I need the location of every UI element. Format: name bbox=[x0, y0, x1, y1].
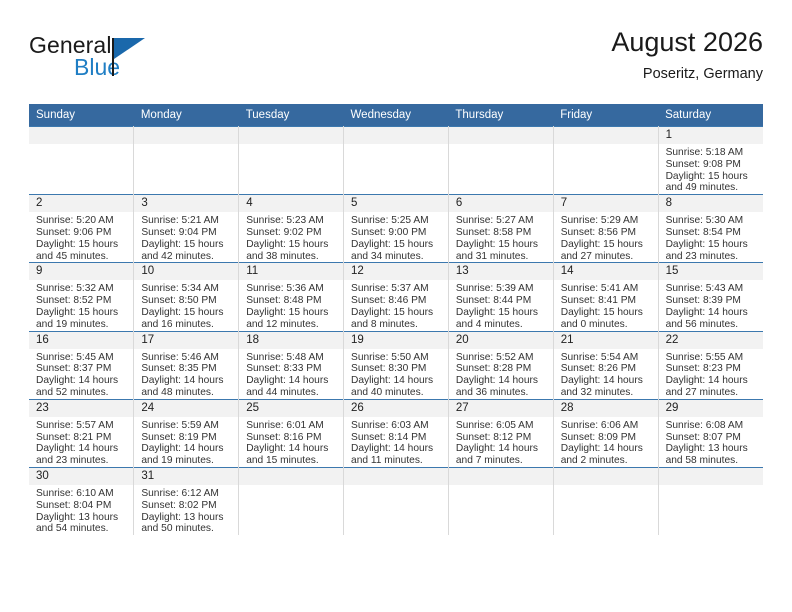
calendar-cell-empty bbox=[553, 127, 658, 195]
day-number: 14 bbox=[554, 263, 658, 280]
daylight-duration-line2: and 48 minutes. bbox=[141, 387, 232, 399]
general-blue-logo[interactable]: General Blue bbox=[29, 26, 159, 90]
daylight-duration-line1: Daylight: 14 hours bbox=[561, 375, 652, 387]
daylight-duration-line1: Daylight: 15 hours bbox=[456, 307, 547, 319]
calendar-cell-empty bbox=[658, 467, 763, 535]
sunrise-time: Sunrise: 6:08 AM bbox=[666, 420, 757, 432]
sunrise-time: Sunrise: 5:54 AM bbox=[561, 352, 652, 364]
sunset-time: Sunset: 8:33 PM bbox=[246, 363, 337, 375]
sunrise-time: Sunrise: 5:30 AM bbox=[666, 215, 757, 227]
daylight-duration-line1: Daylight: 14 hours bbox=[351, 443, 442, 455]
sunrise-time: Sunrise: 5:57 AM bbox=[36, 420, 127, 432]
calendar-cell-empty bbox=[239, 127, 344, 195]
daylight-duration-line1: Daylight: 15 hours bbox=[246, 307, 337, 319]
sunset-time: Sunset: 8:52 PM bbox=[36, 295, 127, 307]
daylight-duration-line2: and 0 minutes. bbox=[561, 319, 652, 331]
daylight-duration-line1: Daylight: 14 hours bbox=[36, 375, 127, 387]
day-number bbox=[239, 468, 343, 485]
day-details: Sunrise: 5:29 AMSunset: 8:56 PMDaylight:… bbox=[554, 212, 658, 262]
sunrise-time: Sunrise: 5:20 AM bbox=[36, 215, 127, 227]
day-number bbox=[659, 468, 763, 485]
day-number: 15 bbox=[659, 263, 763, 280]
daylight-duration-line2: and 23 minutes. bbox=[36, 455, 127, 467]
sunset-time: Sunset: 9:04 PM bbox=[141, 227, 232, 239]
calendar-day-cell[interactable]: 2Sunrise: 5:20 AMSunset: 9:06 PMDaylight… bbox=[29, 195, 134, 263]
daylight-duration-line2: and 54 minutes. bbox=[36, 523, 127, 535]
sunset-time: Sunset: 8:19 PM bbox=[141, 432, 232, 444]
sunset-time: Sunset: 9:06 PM bbox=[36, 227, 127, 239]
day-details: Sunrise: 5:36 AMSunset: 8:48 PMDaylight:… bbox=[239, 280, 343, 330]
sunrise-time: Sunrise: 5:25 AM bbox=[351, 215, 442, 227]
daylight-duration-line2: and 23 minutes. bbox=[666, 251, 757, 263]
calendar-day-cell[interactable]: 1Sunrise: 5:18 AMSunset: 9:08 PMDaylight… bbox=[658, 127, 763, 195]
calendar-day-cell[interactable]: 15Sunrise: 5:43 AMSunset: 8:39 PMDayligh… bbox=[658, 263, 763, 331]
daylight-duration-line1: Daylight: 13 hours bbox=[141, 512, 232, 524]
calendar-week-row: 16Sunrise: 5:45 AMSunset: 8:37 PMDayligh… bbox=[29, 331, 763, 399]
calendar-day-cell[interactable]: 21Sunrise: 5:54 AMSunset: 8:26 PMDayligh… bbox=[553, 331, 658, 399]
daylight-duration-line2: and 44 minutes. bbox=[246, 387, 337, 399]
daylight-duration-line1: Daylight: 15 hours bbox=[351, 239, 442, 251]
day-details: Sunrise: 5:37 AMSunset: 8:46 PMDaylight:… bbox=[344, 280, 448, 330]
day-details: Sunrise: 5:55 AMSunset: 8:23 PMDaylight:… bbox=[659, 349, 763, 399]
calendar-day-cell[interactable]: 17Sunrise: 5:46 AMSunset: 8:35 PMDayligh… bbox=[134, 331, 239, 399]
day-number: 6 bbox=[449, 195, 553, 212]
daylight-duration-line1: Daylight: 13 hours bbox=[666, 443, 757, 455]
day-details: Sunrise: 5:27 AMSunset: 8:58 PMDaylight:… bbox=[449, 212, 553, 262]
day-details: Sunrise: 5:23 AMSunset: 9:02 PMDaylight:… bbox=[239, 212, 343, 262]
day-details: Sunrise: 5:45 AMSunset: 8:37 PMDaylight:… bbox=[29, 349, 133, 399]
calendar-cell-empty bbox=[239, 467, 344, 535]
daylight-duration-line1: Daylight: 15 hours bbox=[351, 307, 442, 319]
calendar-day-cell[interactable]: 7Sunrise: 5:29 AMSunset: 8:56 PMDaylight… bbox=[553, 195, 658, 263]
sunrise-time: Sunrise: 5:27 AM bbox=[456, 215, 547, 227]
weekday-header-saturday: Saturday bbox=[658, 104, 763, 127]
sunrise-time: Sunrise: 5:46 AM bbox=[141, 352, 232, 364]
sunset-time: Sunset: 9:08 PM bbox=[666, 159, 757, 171]
calendar-week-row: 9Sunrise: 5:32 AMSunset: 8:52 PMDaylight… bbox=[29, 263, 763, 331]
day-details: Sunrise: 5:30 AMSunset: 8:54 PMDaylight:… bbox=[659, 212, 763, 262]
sunrise-time: Sunrise: 6:10 AM bbox=[36, 488, 127, 500]
daylight-duration-line1: Daylight: 15 hours bbox=[36, 239, 127, 251]
daylight-duration-line2: and 58 minutes. bbox=[666, 455, 757, 467]
day-number: 22 bbox=[659, 332, 763, 349]
daylight-duration-line2: and 56 minutes. bbox=[666, 319, 757, 331]
daylight-duration-line2: and 45 minutes. bbox=[36, 251, 127, 263]
daylight-duration-line2: and 50 minutes. bbox=[141, 523, 232, 535]
day-number: 29 bbox=[659, 400, 763, 417]
daylight-duration-line1: Daylight: 14 hours bbox=[246, 443, 337, 455]
calendar-day-cell[interactable]: 16Sunrise: 5:45 AMSunset: 8:37 PMDayligh… bbox=[29, 331, 134, 399]
day-details: Sunrise: 5:21 AMSunset: 9:04 PMDaylight:… bbox=[134, 212, 238, 262]
day-number: 31 bbox=[134, 468, 238, 485]
daylight-duration-line2: and 36 minutes. bbox=[456, 387, 547, 399]
page-title: August 2026 bbox=[611, 26, 763, 58]
sunrise-time: Sunrise: 6:01 AM bbox=[246, 420, 337, 432]
calendar-day-cell[interactable]: 30Sunrise: 6:10 AMSunset: 8:04 PMDayligh… bbox=[29, 467, 134, 535]
day-details: Sunrise: 5:25 AMSunset: 9:00 PMDaylight:… bbox=[344, 212, 448, 262]
day-number bbox=[554, 468, 658, 485]
day-details: Sunrise: 5:20 AMSunset: 9:06 PMDaylight:… bbox=[29, 212, 133, 262]
weekday-header-thursday: Thursday bbox=[448, 104, 553, 127]
day-details: Sunrise: 5:48 AMSunset: 8:33 PMDaylight:… bbox=[239, 349, 343, 399]
calendar-cell-empty bbox=[29, 127, 134, 195]
daylight-duration-line2: and 40 minutes. bbox=[351, 387, 442, 399]
calendar-day-cell[interactable]: 23Sunrise: 5:57 AMSunset: 8:21 PMDayligh… bbox=[29, 399, 134, 467]
day-number: 18 bbox=[239, 332, 343, 349]
daylight-duration-line2: and 8 minutes. bbox=[351, 319, 442, 331]
sunset-time: Sunset: 8:56 PM bbox=[561, 227, 652, 239]
daylight-duration-line2: and 27 minutes. bbox=[561, 251, 652, 263]
calendar-day-cell[interactable]: 19Sunrise: 5:50 AMSunset: 8:30 PMDayligh… bbox=[344, 331, 449, 399]
daylight-duration-line1: Daylight: 15 hours bbox=[456, 239, 547, 251]
sunrise-time: Sunrise: 6:12 AM bbox=[141, 488, 232, 500]
day-number: 4 bbox=[239, 195, 343, 212]
day-number: 27 bbox=[449, 400, 553, 417]
logo-triangle-icon bbox=[114, 38, 145, 59]
sunrise-time: Sunrise: 5:18 AM bbox=[666, 147, 757, 159]
sunset-time: Sunset: 8:46 PM bbox=[351, 295, 442, 307]
calendar-day-cell[interactable]: 6Sunrise: 5:27 AMSunset: 8:58 PMDaylight… bbox=[448, 195, 553, 263]
daylight-duration-line1: Daylight: 14 hours bbox=[36, 443, 127, 455]
day-number: 10 bbox=[134, 263, 238, 280]
day-number: 12 bbox=[344, 263, 448, 280]
daylight-duration-line2: and 2 minutes. bbox=[561, 455, 652, 467]
daylight-duration-line1: Daylight: 14 hours bbox=[141, 375, 232, 387]
day-details: Sunrise: 6:05 AMSunset: 8:12 PMDaylight:… bbox=[449, 417, 553, 467]
sunrise-time: Sunrise: 6:03 AM bbox=[351, 420, 442, 432]
day-details: Sunrise: 6:10 AMSunset: 8:04 PMDaylight:… bbox=[29, 485, 133, 535]
page-header: General Blue August 2026 Poseritz, Germa… bbox=[29, 26, 763, 98]
sunset-time: Sunset: 8:14 PM bbox=[351, 432, 442, 444]
calendar-cell-empty bbox=[134, 127, 239, 195]
calendar-day-cell[interactable]: 3Sunrise: 5:21 AMSunset: 9:04 PMDaylight… bbox=[134, 195, 239, 263]
day-number: 28 bbox=[554, 400, 658, 417]
daylight-duration-line1: Daylight: 15 hours bbox=[246, 239, 337, 251]
daylight-duration-line1: Daylight: 15 hours bbox=[561, 239, 652, 251]
sunset-time: Sunset: 8:12 PM bbox=[456, 432, 547, 444]
daylight-duration-line1: Daylight: 14 hours bbox=[666, 307, 757, 319]
calendar-week-row: 1Sunrise: 5:18 AMSunset: 9:08 PMDaylight… bbox=[29, 127, 763, 195]
calendar-day-cell[interactable]: 29Sunrise: 6:08 AMSunset: 8:07 PMDayligh… bbox=[658, 399, 763, 467]
daylight-duration-line2: and 27 minutes. bbox=[666, 387, 757, 399]
calendar-day-cell[interactable]: 22Sunrise: 5:55 AMSunset: 8:23 PMDayligh… bbox=[658, 331, 763, 399]
sunrise-time: Sunrise: 5:48 AM bbox=[246, 352, 337, 364]
day-details: Sunrise: 5:54 AMSunset: 8:26 PMDaylight:… bbox=[554, 349, 658, 399]
daylight-duration-line1: Daylight: 15 hours bbox=[561, 307, 652, 319]
calendar-cell-empty bbox=[448, 467, 553, 535]
calendar-day-cell[interactable]: 8Sunrise: 5:30 AMSunset: 8:54 PMDaylight… bbox=[658, 195, 763, 263]
day-details: Sunrise: 5:34 AMSunset: 8:50 PMDaylight:… bbox=[134, 280, 238, 330]
sunset-time: Sunset: 8:54 PM bbox=[666, 227, 757, 239]
daylight-duration-line2: and 32 minutes. bbox=[561, 387, 652, 399]
title-block: August 2026 Poseritz, Germany bbox=[611, 26, 763, 84]
daylight-duration-line1: Daylight: 14 hours bbox=[456, 443, 547, 455]
day-number: 17 bbox=[134, 332, 238, 349]
calendar-day-cell[interactable]: 5Sunrise: 5:25 AMSunset: 9:00 PMDaylight… bbox=[344, 195, 449, 263]
sunrise-time: Sunrise: 6:06 AM bbox=[561, 420, 652, 432]
daylight-duration-line1: Daylight: 14 hours bbox=[666, 375, 757, 387]
daylight-duration-line1: Daylight: 15 hours bbox=[36, 307, 127, 319]
calendar-day-cell[interactable]: 13Sunrise: 5:39 AMSunset: 8:44 PMDayligh… bbox=[448, 263, 553, 331]
sunset-time: Sunset: 8:39 PM bbox=[666, 295, 757, 307]
daylight-duration-line1: Daylight: 14 hours bbox=[456, 375, 547, 387]
day-details: Sunrise: 5:43 AMSunset: 8:39 PMDaylight:… bbox=[659, 280, 763, 330]
day-number: 16 bbox=[29, 332, 133, 349]
sunset-time: Sunset: 8:16 PM bbox=[246, 432, 337, 444]
sunset-time: Sunset: 8:26 PM bbox=[561, 363, 652, 375]
sunset-time: Sunset: 8:58 PM bbox=[456, 227, 547, 239]
page-subtitle: Poseritz, Germany bbox=[611, 64, 763, 84]
daylight-duration-line1: Daylight: 13 hours bbox=[36, 512, 127, 524]
day-details: Sunrise: 5:46 AMSunset: 8:35 PMDaylight:… bbox=[134, 349, 238, 399]
calendar-day-cell[interactable]: 18Sunrise: 5:48 AMSunset: 8:33 PMDayligh… bbox=[239, 331, 344, 399]
calendar-day-cell[interactable]: 27Sunrise: 6:05 AMSunset: 8:12 PMDayligh… bbox=[448, 399, 553, 467]
day-number: 7 bbox=[554, 195, 658, 212]
calendar-header-row: SundayMondayTuesdayWednesdayThursdayFrid… bbox=[29, 104, 763, 127]
calendar-day-cell[interactable]: 31Sunrise: 6:12 AMSunset: 8:02 PMDayligh… bbox=[134, 467, 239, 535]
daylight-duration-line2: and 19 minutes. bbox=[36, 319, 127, 331]
sunset-time: Sunset: 9:02 PM bbox=[246, 227, 337, 239]
sunrise-time: Sunrise: 5:59 AM bbox=[141, 420, 232, 432]
day-details: Sunrise: 6:12 AMSunset: 8:02 PMDaylight:… bbox=[134, 485, 238, 535]
daylight-duration-line2: and 7 minutes. bbox=[456, 455, 547, 467]
sunset-time: Sunset: 8:35 PM bbox=[141, 363, 232, 375]
day-number: 19 bbox=[344, 332, 448, 349]
day-details: Sunrise: 6:08 AMSunset: 8:07 PMDaylight:… bbox=[659, 417, 763, 467]
sunrise-time: Sunrise: 5:39 AM bbox=[456, 283, 547, 295]
sunset-time: Sunset: 8:07 PM bbox=[666, 432, 757, 444]
sunset-time: Sunset: 9:00 PM bbox=[351, 227, 442, 239]
daylight-duration-line2: and 11 minutes. bbox=[351, 455, 442, 467]
daylight-duration-line2: and 38 minutes. bbox=[246, 251, 337, 263]
day-number: 26 bbox=[344, 400, 448, 417]
sunset-time: Sunset: 8:09 PM bbox=[561, 432, 652, 444]
daylight-duration-line2: and 52 minutes. bbox=[36, 387, 127, 399]
daylight-duration-line1: Daylight: 14 hours bbox=[351, 375, 442, 387]
sunset-time: Sunset: 8:37 PM bbox=[36, 363, 127, 375]
calendar-week-row: 30Sunrise: 6:10 AMSunset: 8:04 PMDayligh… bbox=[29, 467, 763, 535]
day-number: 24 bbox=[134, 400, 238, 417]
sunset-time: Sunset: 8:04 PM bbox=[36, 500, 127, 512]
calendar-body: 1Sunrise: 5:18 AMSunset: 9:08 PMDaylight… bbox=[29, 127, 763, 536]
calendar-day-cell[interactable]: 9Sunrise: 5:32 AMSunset: 8:52 PMDaylight… bbox=[29, 263, 134, 331]
day-number: 9 bbox=[29, 263, 133, 280]
daylight-duration-line2: and 49 minutes. bbox=[666, 182, 757, 194]
day-number bbox=[344, 127, 448, 144]
daylight-duration-line2: and 15 minutes. bbox=[246, 455, 337, 467]
day-number: 1 bbox=[659, 127, 763, 144]
day-number: 13 bbox=[449, 263, 553, 280]
sunset-time: Sunset: 8:02 PM bbox=[141, 500, 232, 512]
daylight-duration-line1: Daylight: 15 hours bbox=[141, 239, 232, 251]
calendar-cell-empty bbox=[448, 127, 553, 195]
day-number: 21 bbox=[554, 332, 658, 349]
calendar-cell-empty bbox=[553, 467, 658, 535]
day-details: Sunrise: 6:01 AMSunset: 8:16 PMDaylight:… bbox=[239, 417, 343, 467]
sunset-time: Sunset: 8:44 PM bbox=[456, 295, 547, 307]
day-number: 5 bbox=[344, 195, 448, 212]
sunrise-time: Sunrise: 5:32 AM bbox=[36, 283, 127, 295]
weekday-header-sunday: Sunday bbox=[29, 104, 134, 127]
daylight-duration-line1: Daylight: 14 hours bbox=[246, 375, 337, 387]
day-details: Sunrise: 5:57 AMSunset: 8:21 PMDaylight:… bbox=[29, 417, 133, 467]
day-number: 11 bbox=[239, 263, 343, 280]
sunrise-time: Sunrise: 5:34 AM bbox=[141, 283, 232, 295]
daylight-duration-line1: Daylight: 14 hours bbox=[141, 443, 232, 455]
day-details: Sunrise: 5:52 AMSunset: 8:28 PMDaylight:… bbox=[449, 349, 553, 399]
calendar-day-cell[interactable]: 12Sunrise: 5:37 AMSunset: 8:46 PMDayligh… bbox=[344, 263, 449, 331]
day-number bbox=[29, 127, 133, 144]
day-details: Sunrise: 6:03 AMSunset: 8:14 PMDaylight:… bbox=[344, 417, 448, 467]
sunrise-time: Sunrise: 5:55 AM bbox=[666, 352, 757, 364]
sunrise-sunset-calendar: SundayMondayTuesdayWednesdayThursdayFrid… bbox=[29, 104, 763, 535]
day-number: 20 bbox=[449, 332, 553, 349]
sunset-time: Sunset: 8:21 PM bbox=[36, 432, 127, 444]
sunrise-time: Sunrise: 5:21 AM bbox=[141, 215, 232, 227]
calendar-cell-empty bbox=[344, 127, 449, 195]
sunrise-time: Sunrise: 5:50 AM bbox=[351, 352, 442, 364]
sunset-time: Sunset: 8:23 PM bbox=[666, 363, 757, 375]
day-number bbox=[449, 127, 553, 144]
calendar-day-cell[interactable]: 10Sunrise: 5:34 AMSunset: 8:50 PMDayligh… bbox=[134, 263, 239, 331]
sunrise-time: Sunrise: 5:45 AM bbox=[36, 352, 127, 364]
day-details: Sunrise: 5:18 AMSunset: 9:08 PMDaylight:… bbox=[659, 144, 763, 194]
calendar-cell-empty bbox=[344, 467, 449, 535]
weekday-header-friday: Friday bbox=[553, 104, 658, 127]
day-number: 3 bbox=[134, 195, 238, 212]
sunrise-time: Sunrise: 5:52 AM bbox=[456, 352, 547, 364]
daylight-duration-line2: and 42 minutes. bbox=[141, 251, 232, 263]
calendar-page: General Blue August 2026 Poseritz, Germa… bbox=[0, 0, 792, 612]
daylight-duration-line1: Daylight: 15 hours bbox=[666, 171, 757, 183]
calendar-day-cell[interactable]: 4Sunrise: 5:23 AMSunset: 9:02 PMDaylight… bbox=[239, 195, 344, 263]
weekday-header-wednesday: Wednesday bbox=[344, 104, 449, 127]
weekday-header-monday: Monday bbox=[134, 104, 239, 127]
sunrise-time: Sunrise: 5:37 AM bbox=[351, 283, 442, 295]
sunset-time: Sunset: 8:50 PM bbox=[141, 295, 232, 307]
day-details: Sunrise: 5:41 AMSunset: 8:41 PMDaylight:… bbox=[554, 280, 658, 330]
calendar-week-row: 23Sunrise: 5:57 AMSunset: 8:21 PMDayligh… bbox=[29, 399, 763, 467]
day-number: 8 bbox=[659, 195, 763, 212]
day-number: 30 bbox=[29, 468, 133, 485]
sunset-time: Sunset: 8:41 PM bbox=[561, 295, 652, 307]
daylight-duration-line2: and 31 minutes. bbox=[456, 251, 547, 263]
day-number bbox=[239, 127, 343, 144]
calendar-week-row: 2Sunrise: 5:20 AMSunset: 9:06 PMDaylight… bbox=[29, 195, 763, 263]
calendar-day-cell[interactable]: 26Sunrise: 6:03 AMSunset: 8:14 PMDayligh… bbox=[344, 399, 449, 467]
day-details: Sunrise: 5:50 AMSunset: 8:30 PMDaylight:… bbox=[344, 349, 448, 399]
daylight-duration-line2: and 16 minutes. bbox=[141, 319, 232, 331]
daylight-duration-line2: and 4 minutes. bbox=[456, 319, 547, 331]
calendar-day-cell[interactable]: 24Sunrise: 5:59 AMSunset: 8:19 PMDayligh… bbox=[134, 399, 239, 467]
day-details: Sunrise: 5:32 AMSunset: 8:52 PMDaylight:… bbox=[29, 280, 133, 330]
sunrise-time: Sunrise: 5:29 AM bbox=[561, 215, 652, 227]
weekday-header-tuesday: Tuesday bbox=[239, 104, 344, 127]
sunset-time: Sunset: 8:48 PM bbox=[246, 295, 337, 307]
sunrise-time: Sunrise: 6:05 AM bbox=[456, 420, 547, 432]
daylight-duration-line2: and 34 minutes. bbox=[351, 251, 442, 263]
day-number bbox=[449, 468, 553, 485]
daylight-duration-line2: and 12 minutes. bbox=[246, 319, 337, 331]
calendar-day-cell[interactable]: 20Sunrise: 5:52 AMSunset: 8:28 PMDayligh… bbox=[448, 331, 553, 399]
daylight-duration-line2: and 19 minutes. bbox=[141, 455, 232, 467]
day-details: Sunrise: 5:39 AMSunset: 8:44 PMDaylight:… bbox=[449, 280, 553, 330]
day-number: 25 bbox=[239, 400, 343, 417]
calendar-day-cell[interactable]: 14Sunrise: 5:41 AMSunset: 8:41 PMDayligh… bbox=[553, 263, 658, 331]
day-number: 23 bbox=[29, 400, 133, 417]
calendar-day-cell[interactable]: 25Sunrise: 6:01 AMSunset: 8:16 PMDayligh… bbox=[239, 399, 344, 467]
day-details: Sunrise: 6:06 AMSunset: 8:09 PMDaylight:… bbox=[554, 417, 658, 467]
sunrise-time: Sunrise: 5:36 AM bbox=[246, 283, 337, 295]
sunrise-time: Sunrise: 5:41 AM bbox=[561, 283, 652, 295]
day-number bbox=[344, 468, 448, 485]
day-details: Sunrise: 5:59 AMSunset: 8:19 PMDaylight:… bbox=[134, 417, 238, 467]
daylight-duration-line1: Daylight: 14 hours bbox=[561, 443, 652, 455]
sunset-time: Sunset: 8:30 PM bbox=[351, 363, 442, 375]
daylight-duration-line1: Daylight: 15 hours bbox=[666, 239, 757, 251]
day-number bbox=[134, 127, 238, 144]
sunrise-time: Sunrise: 5:23 AM bbox=[246, 215, 337, 227]
daylight-duration-line1: Daylight: 15 hours bbox=[141, 307, 232, 319]
sunrise-time: Sunrise: 5:43 AM bbox=[666, 283, 757, 295]
day-number bbox=[554, 127, 658, 144]
day-number: 2 bbox=[29, 195, 133, 212]
calendar-day-cell[interactable]: 11Sunrise: 5:36 AMSunset: 8:48 PMDayligh… bbox=[239, 263, 344, 331]
calendar-day-cell[interactable]: 28Sunrise: 6:06 AMSunset: 8:09 PMDayligh… bbox=[553, 399, 658, 467]
sunset-time: Sunset: 8:28 PM bbox=[456, 363, 547, 375]
